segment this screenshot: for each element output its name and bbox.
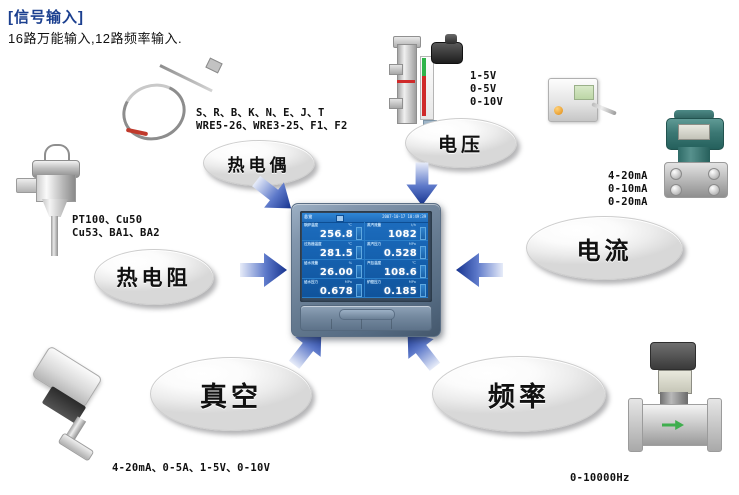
channel-value: 108.6: [384, 267, 417, 278]
label-current[interactable]: 电流: [526, 216, 683, 280]
voltage-transmitter-image: [548, 78, 618, 156]
level-gauge-flange-top: [389, 64, 403, 75]
channel-bargraph: [420, 284, 426, 297]
level-gauge-pipe: [397, 44, 417, 124]
label-voltage[interactable]: 电压: [405, 118, 517, 168]
channel-tag: 给水流量: [304, 261, 318, 266]
panel-seam: [331, 319, 332, 329]
thermocouple-spec-text: S、R、B、K、N、E、J、T WRE5-26、WRE3-25、F1、F2: [196, 107, 348, 133]
recorder-front-panel[interactable]: [300, 305, 432, 331]
channel-unit: MPa: [409, 242, 416, 246]
channel-unit: ℃: [412, 261, 416, 265]
channel-value: 256.8: [320, 229, 353, 240]
rtd-stem: [51, 216, 58, 256]
thermocouple-coil: [115, 75, 193, 148]
pressure-transmitter-image: [662, 110, 739, 220]
flange-bolt: [708, 184, 720, 196]
flow-meter-flange-left: [628, 398, 643, 452]
channel-tag: 蒸汽流量: [367, 223, 381, 228]
channel-value: 1082: [388, 229, 417, 240]
level-gauge-red-band: [422, 76, 426, 116]
channel-unit: MPa: [345, 280, 352, 284]
paperless-recorder[interactable]: 总览 2007-10-17 10:49:39 锅炉温度 ℃ 256.8 蒸汽流量…: [291, 203, 441, 337]
channel-value: 281.5: [320, 248, 353, 259]
flow-meter-display: [658, 370, 692, 394]
channel-cell[interactable]: 汽包温度 ℃ 108.6: [365, 260, 428, 279]
vacuum-sensor-image: [30, 355, 116, 465]
screen-status-icon: [336, 215, 344, 222]
channel-bargraph: [420, 265, 426, 278]
channel-bargraph: [356, 246, 362, 259]
channel-tag: 过热器温度: [304, 242, 321, 247]
transmitter-display: [574, 85, 594, 100]
page-title: [信号输入]: [8, 6, 84, 27]
label-rtd[interactable]: 热电阻: [94, 249, 214, 305]
channel-tag: 蒸汽压力: [367, 242, 381, 247]
level-gauge-knob: [445, 34, 457, 44]
page-subtitle: 16路万能输入,12路频率输入.: [8, 28, 182, 47]
recorder-bezel: 总览 2007-10-17 10:49:39 锅炉温度 ℃ 256.8 蒸汽流量…: [300, 211, 432, 302]
channel-value: 0.678: [320, 286, 353, 297]
channel-bargraph: [356, 227, 362, 240]
current-spec-text: 4-20mA 0-10mA 0-20mA: [608, 170, 648, 209]
channel-unit: ℃: [348, 223, 352, 227]
transmitter-indicator-led: [554, 106, 563, 115]
flange-bolt: [670, 184, 682, 196]
channel-unit: MPa: [409, 280, 416, 284]
channel-cell[interactable]: 炉膛压力 MPa 0.185: [365, 279, 428, 298]
channel-cell[interactable]: 蒸汽流量 t/h 1082: [365, 222, 428, 241]
rtd-body: [36, 174, 76, 202]
vacuum-spec-text: 4-20mA、0-5A、1-5V、0-10V: [112, 462, 270, 475]
label-frequency[interactable]: 频率: [432, 356, 606, 432]
channel-value: 0.185: [384, 286, 417, 297]
arrow-left-icon-current: [455, 252, 503, 288]
screen-timestamp: 2007-10-17 10:49:39: [382, 214, 426, 219]
thermocouple-tip: [205, 57, 222, 73]
recorder-handle[interactable]: [339, 309, 395, 320]
panel-seam: [361, 319, 362, 329]
voltage-spec-text: 1-5V 0-5V 0-10V: [470, 70, 503, 109]
flow-meter-image: [628, 340, 739, 470]
channel-cell[interactable]: 锅炉温度 ℃ 256.8: [302, 222, 365, 241]
channel-bargraph: [420, 227, 426, 240]
channel-cell[interactable]: 蒸汽压力 MPa 0.528: [365, 241, 428, 260]
channel-cell[interactable]: 过热器温度 ℃ 281.5: [302, 241, 365, 260]
recorder-screen[interactable]: 总览 2007-10-17 10:49:39 锅炉温度 ℃ 256.8 蒸汽流量…: [302, 213, 428, 298]
rtd-spec-text: PT100、Cu50 Cu53、BA1、BA2: [72, 214, 160, 240]
label-vacuum-text: 真空: [200, 375, 262, 414]
label-thermocouple-text: 热电偶: [228, 151, 291, 176]
channel-cell[interactable]: 给水压力 MPa 0.678: [302, 279, 365, 298]
pressure-transmitter-display: [678, 124, 710, 140]
channel-grid: 锅炉温度 ℃ 256.8 蒸汽流量 t/h 1082 过热器温度 ℃ 281.5: [302, 222, 428, 298]
channel-bargraph: [356, 284, 362, 297]
channel-tag: 炉膛压力: [367, 280, 381, 285]
pressure-transmitter-neck: [678, 147, 710, 163]
label-rtd-text: 热电阻: [117, 262, 192, 292]
flange-bolt: [708, 168, 720, 180]
channel-unit: t/h: [411, 223, 416, 227]
label-voltage-text: 电压: [438, 130, 484, 157]
level-gauge-transmitter-head: [431, 42, 463, 64]
arrow-right-icon-rtd: [240, 252, 288, 288]
rtd-cone: [42, 199, 68, 217]
level-gauge-flange-bottom: [389, 98, 403, 109]
level-gauge-mark: [397, 80, 415, 83]
channel-bargraph: [420, 246, 426, 259]
screen-status-label: 总览: [304, 214, 312, 220]
rtd-connector: [16, 178, 38, 193]
flow-meter-flange-right: [707, 398, 722, 452]
channel-unit: ℃: [348, 242, 352, 246]
channel-tag: 汽包温度: [367, 261, 381, 266]
flow-meter-head: [650, 342, 696, 370]
frequency-spec-text: 0-10000Hz: [570, 472, 630, 485]
label-vacuum[interactable]: 真空: [150, 357, 312, 431]
arrow-down-icon-voltage: [406, 163, 439, 207]
label-current-text: 电流: [577, 231, 633, 266]
channel-cell[interactable]: 给水流量 % 26.00: [302, 260, 365, 279]
channel-tag: 锅炉温度: [304, 223, 318, 228]
panel-seam: [391, 319, 392, 329]
channel-value: 26.00: [320, 267, 353, 278]
label-frequency-text: 频率: [488, 375, 550, 414]
channel-unit: %: [349, 261, 352, 265]
channel-value: 0.528: [384, 248, 417, 259]
channel-bargraph: [356, 265, 362, 278]
level-gauge-green-band: [422, 58, 426, 76]
channel-tag: 给水压力: [304, 280, 318, 285]
flange-bolt: [670, 168, 682, 180]
